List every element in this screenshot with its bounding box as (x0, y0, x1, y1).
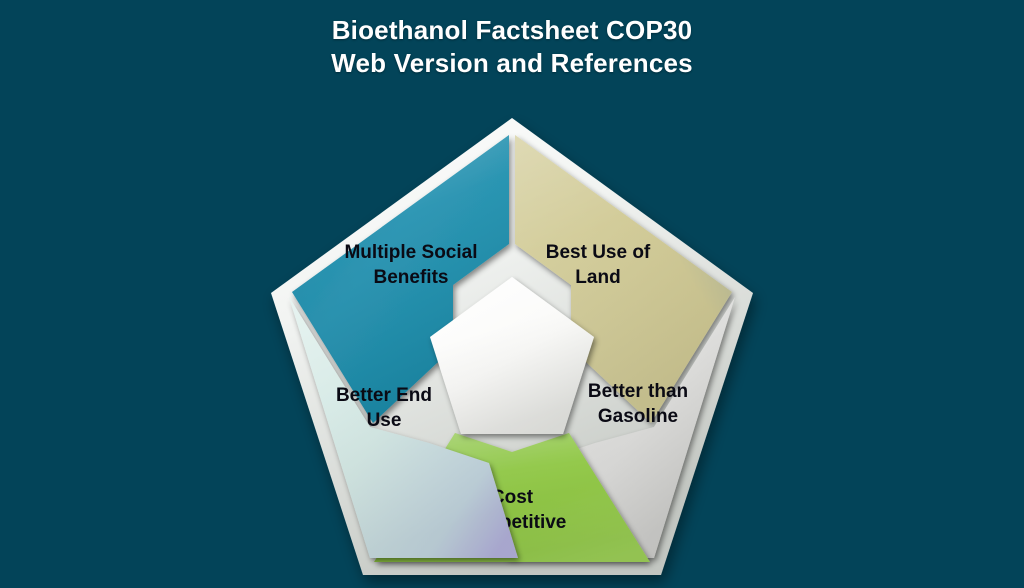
slide-canvas: Bioethanol Factsheet COP30 Web Version a… (0, 0, 1024, 588)
segment-label-better-end-use-line2: Use (367, 410, 402, 431)
segment-label-multiple-social-benefits-line1: Multiple Social (344, 242, 477, 263)
segment-label-multiple-social-benefits-line2: Benefits (374, 267, 449, 288)
segment-label-better-than-gasoline-line2: Gasoline (598, 406, 678, 427)
segment-label-better-end-use-line1: Better End (336, 385, 432, 406)
pentagon-diagram-container: Multiple Social Benefits Best Use of Lan… (0, 0, 1024, 588)
segment-label-better-than-gasoline-line1: Better than (588, 381, 688, 402)
segment-label-best-use-of-land-line1: Best Use of (546, 242, 651, 263)
segment-label-best-use-of-land-line2: Land (575, 267, 620, 288)
pentagon-segment-diagram: Multiple Social Benefits Best Use of Lan… (0, 0, 1024, 588)
